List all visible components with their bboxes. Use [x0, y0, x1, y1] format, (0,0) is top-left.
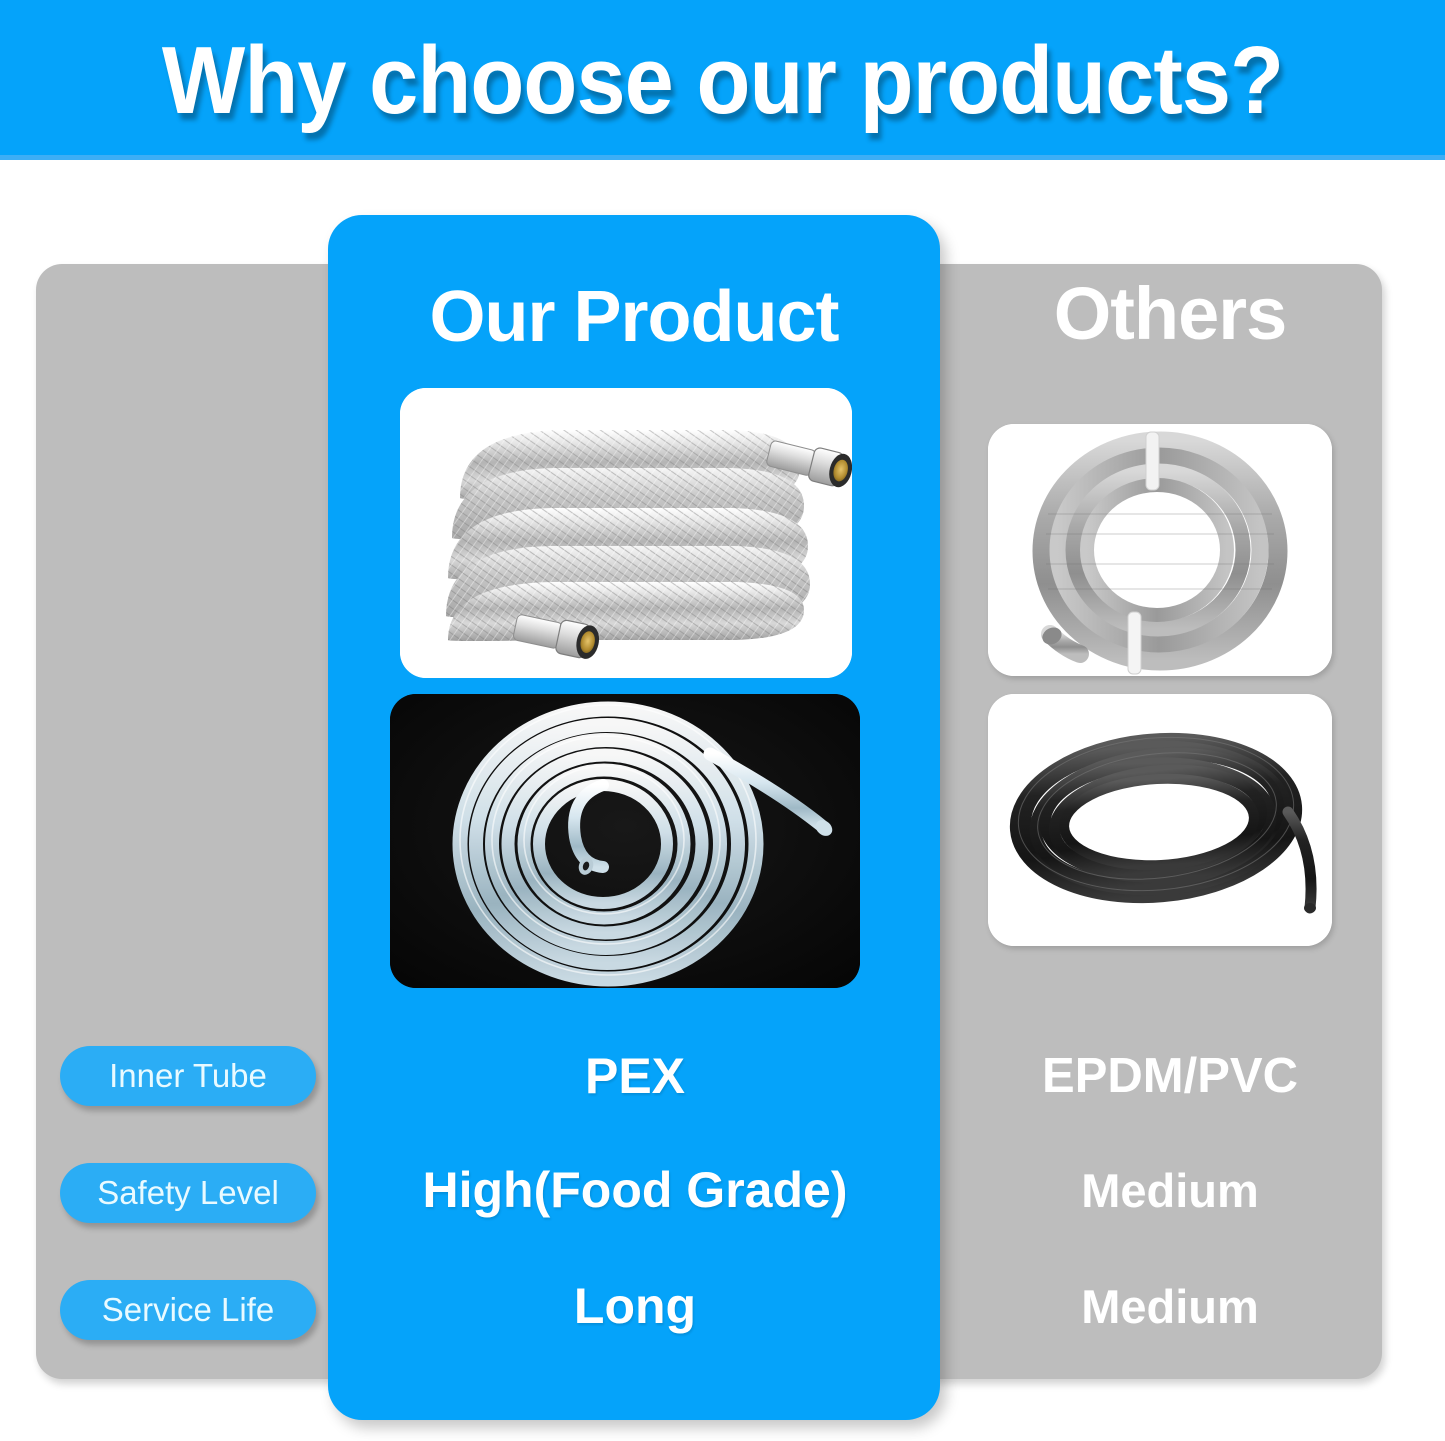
others-value-inner-tube: EPDM/PVC — [960, 1046, 1380, 1106]
black-rubber-hose-coil-icon — [988, 694, 1332, 946]
row-label-text: Safety Level — [97, 1174, 279, 1212]
row-label-safety-level[interactable]: Safety Level — [60, 1163, 316, 1223]
others-product-image-1 — [988, 424, 1332, 676]
others-product-image-2 — [988, 694, 1332, 946]
gray-braided-hose-coil-icon — [988, 424, 1332, 676]
others-value-service-life: Medium — [960, 1277, 1380, 1337]
header-banner: Why choose our products? — [0, 0, 1445, 160]
row-label-inner-tube[interactable]: Inner Tube — [60, 1046, 316, 1106]
page-title: Why choose our products? — [58, 26, 1387, 136]
others-value-safety-level: Medium — [960, 1161, 1380, 1221]
others-column-heading: Others — [960, 272, 1380, 356]
braided-stainless-steel-hose-coil-icon — [400, 388, 852, 678]
our-product-image-2 — [390, 694, 860, 988]
our-value-service-life: Long — [340, 1276, 930, 1336]
row-label-service-life[interactable]: Service Life — [60, 1280, 316, 1340]
our-product-column-heading: Our Product — [328, 276, 940, 358]
our-product-image-1 — [400, 388, 852, 678]
row-label-text: Inner Tube — [109, 1057, 267, 1095]
our-value-inner-tube: PEX — [340, 1046, 930, 1106]
row-label-text: Service Life — [102, 1291, 274, 1329]
clear-pex-tubing-coil-icon — [390, 694, 860, 988]
our-value-safety-level: High(Food Grade) — [340, 1160, 930, 1220]
